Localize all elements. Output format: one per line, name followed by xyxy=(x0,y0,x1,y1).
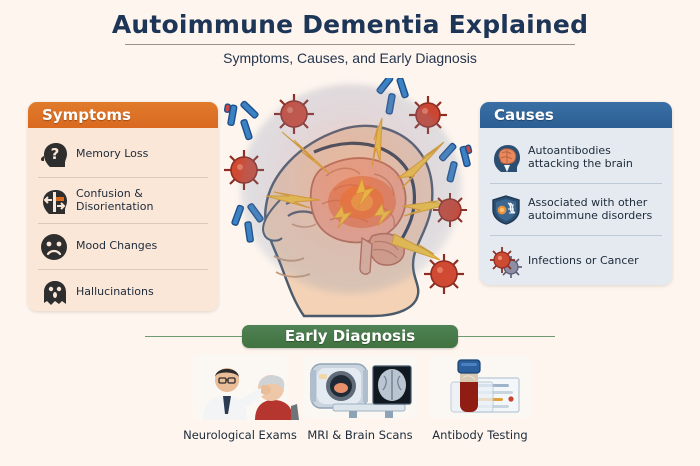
list-item-label: Associated with other autoimmune disorde… xyxy=(528,197,662,223)
diagnosis-item-antibody-testing[interactable]: Antibody Testing xyxy=(405,352,555,442)
head-question-icon: ? xyxy=(38,139,70,171)
list-item-label: Mood Changes xyxy=(76,240,157,253)
list-item[interactable]: Autoantibodies attacking the brain xyxy=(490,132,662,183)
causes-heading: Causes xyxy=(480,102,672,128)
virus-cluster-icon xyxy=(490,246,522,278)
list-item[interactable]: Mood Changes xyxy=(38,223,208,269)
diagnosis-item-label: Antibody Testing xyxy=(405,428,555,442)
symptoms-heading: Symptoms xyxy=(28,102,218,128)
list-item-label: Autoantibodies attacking the brain xyxy=(528,145,662,171)
page-subtitle: Symptoms, Causes, and Early Diagnosis xyxy=(0,50,700,66)
list-item-label: Confusion & Disorientation xyxy=(76,188,208,214)
shield-dna-icon xyxy=(490,194,522,226)
symptoms-list: ? Memory Loss Confusion & Disorientation xyxy=(28,128,218,311)
list-item[interactable]: Confusion & Disorientation xyxy=(38,177,208,223)
inflammation-glow xyxy=(240,84,462,294)
ghost-icon xyxy=(38,277,70,309)
list-item[interactable]: Associated with other autoimmune disorde… xyxy=(490,183,662,235)
diagnosis-divider-right xyxy=(455,336,555,337)
blood-vial-art xyxy=(405,352,555,424)
title-divider xyxy=(125,44,575,45)
head-arrows-icon xyxy=(38,185,70,217)
diagnosis-divider-left xyxy=(145,336,245,337)
svg-text:?: ? xyxy=(51,145,60,163)
infographic-canvas: Autoimmune Dementia Explained Symptoms, … xyxy=(0,0,700,466)
diagnosis-heading: Early Diagnosis xyxy=(242,325,458,348)
causes-panel: Causes Autoantibodies attacking the brai… xyxy=(480,102,672,285)
list-item-label: Memory Loss xyxy=(76,148,148,161)
sad-face-icon xyxy=(38,231,70,263)
list-item-label: Hallucinations xyxy=(76,286,154,299)
list-item[interactable]: ? Memory Loss xyxy=(38,132,208,177)
head-brain-icon xyxy=(490,142,522,174)
causes-list: Autoantibodies attacking the brain Assoc… xyxy=(480,128,672,285)
page-title: Autoimmune Dementia Explained xyxy=(0,10,700,39)
list-item[interactable]: Infections or Cancer xyxy=(490,235,662,285)
symptoms-panel: Symptoms ? Memory Loss xyxy=(28,102,218,311)
list-item[interactable]: Hallucinations xyxy=(38,269,208,311)
list-item-label: Infections or Cancer xyxy=(528,255,639,268)
center-illustration xyxy=(222,78,480,322)
